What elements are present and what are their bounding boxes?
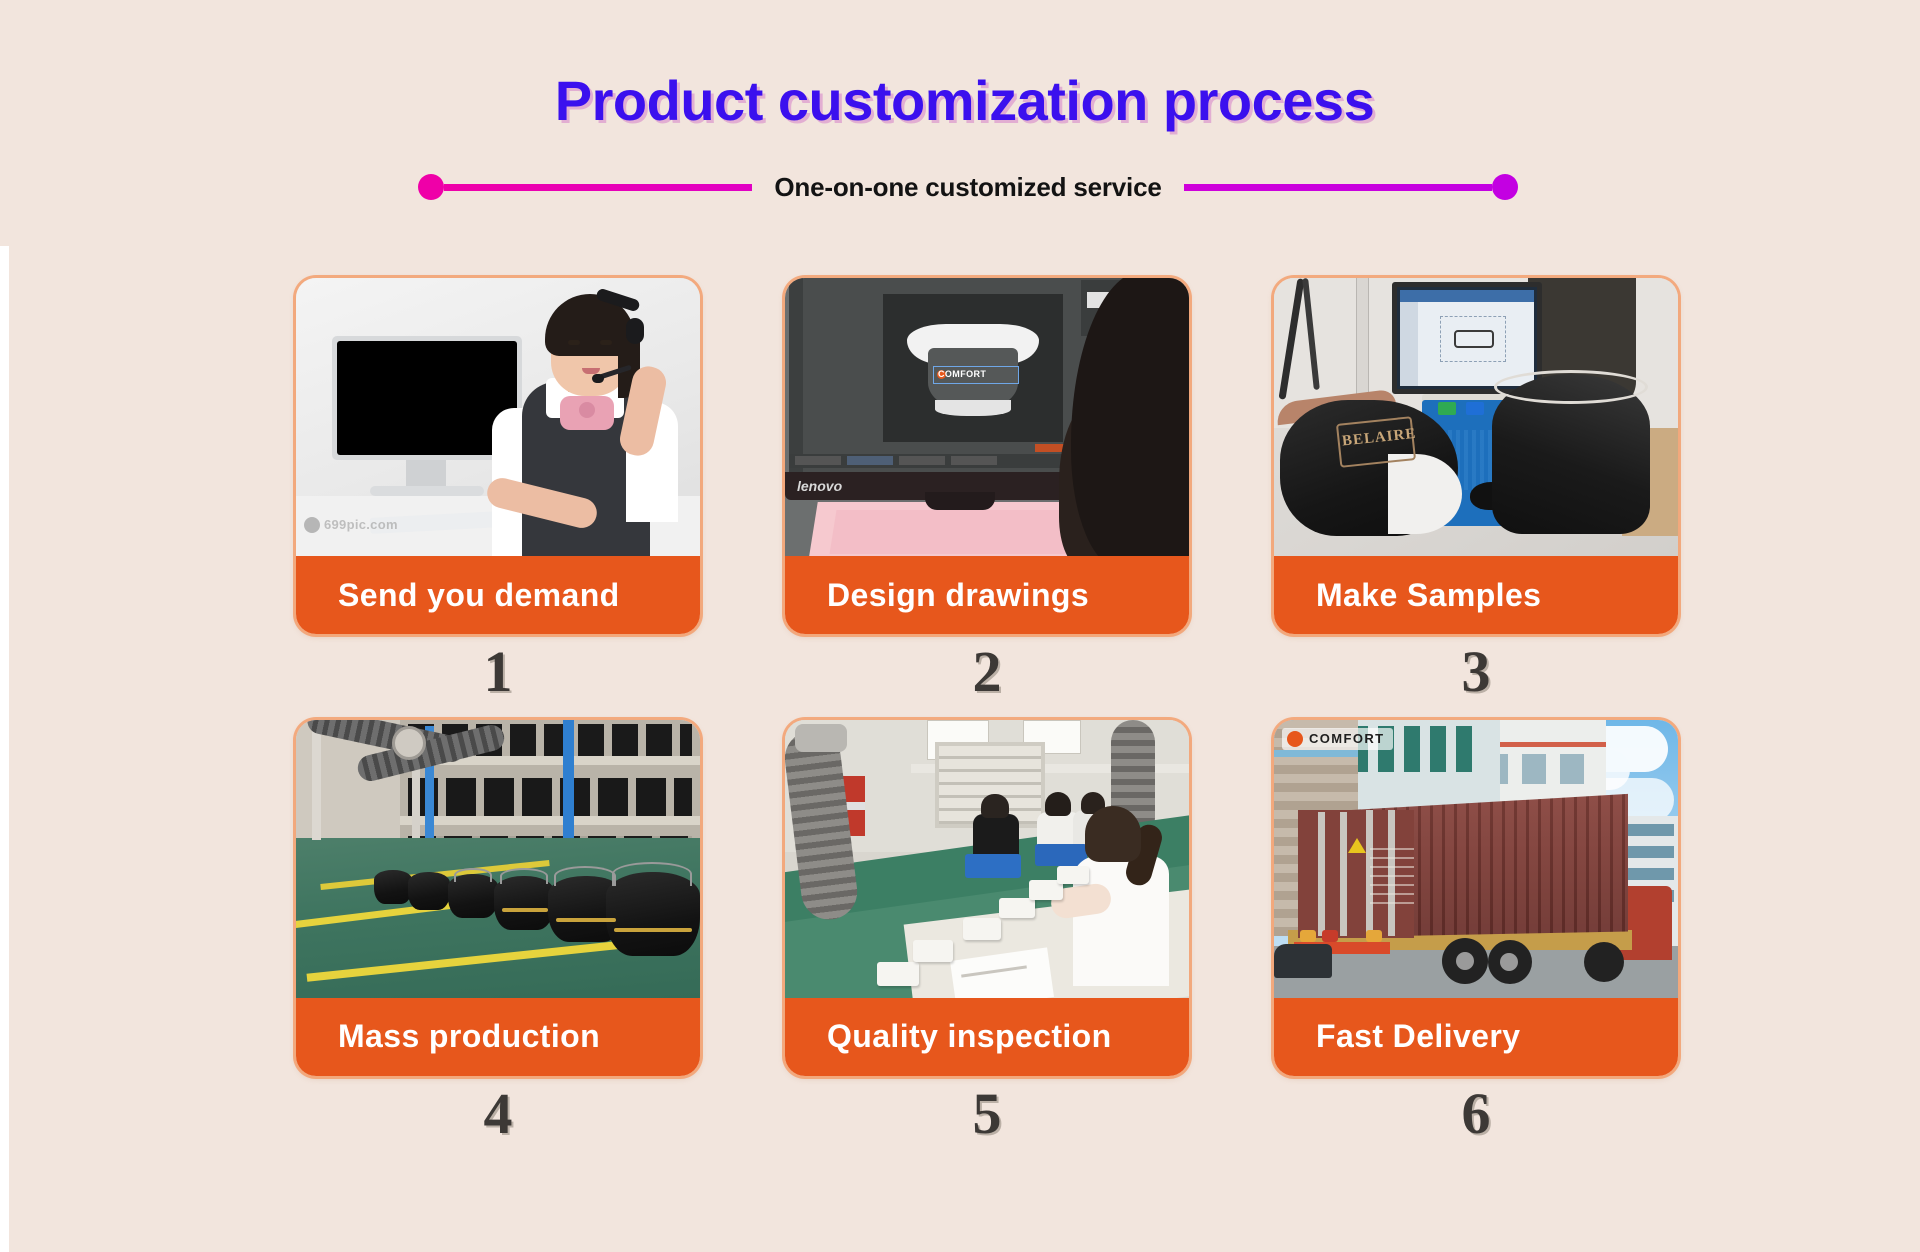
blue-tray-icon xyxy=(965,854,1021,878)
poster-header: Product customization process One-on-one… xyxy=(9,0,1920,230)
monitor-screen-icon xyxy=(337,341,517,455)
step-card[interactable]: Mass production xyxy=(296,720,700,1076)
product-bucket xyxy=(494,876,554,930)
step-card[interactable]: COMFORT Fast Delivery xyxy=(1274,720,1678,1076)
step-label-text: Fast Delivery xyxy=(1316,1018,1520,1055)
fan-icon xyxy=(392,726,426,760)
step-label-text: Mass production xyxy=(338,1018,600,1055)
poster-stage: Product customization process One-on-one… xyxy=(9,0,1920,1252)
step-photo-quality-inspection xyxy=(785,720,1189,998)
dot-left-icon xyxy=(418,174,444,200)
rule-right-divider xyxy=(1184,184,1492,191)
product-box xyxy=(913,940,953,962)
step-label-text: Quality inspection xyxy=(827,1018,1112,1055)
step-photo-send-you-demand: 699pic.com xyxy=(296,278,700,556)
step-label-text: Send you demand xyxy=(338,577,620,614)
subtitle-row: One-on-one customized service xyxy=(418,170,1518,204)
process-step-3: BELAIRE Make Samples 3 xyxy=(1274,278,1678,703)
step-card[interactable]: Quality inspection xyxy=(785,720,1189,1076)
product-box xyxy=(877,962,919,986)
page-title: Product customization process xyxy=(9,68,1920,133)
step-label-text: Make Samples xyxy=(1316,577,1541,614)
subtitle-text: One-on-one customized service xyxy=(752,172,1183,203)
step-label-band: Make Samples xyxy=(1274,556,1678,634)
process-step-5: Quality inspection 5 xyxy=(785,720,1189,1145)
comfort-logo-icon xyxy=(1287,731,1303,747)
step-number: 2 xyxy=(785,634,1189,703)
process-step-4: Mass production 4 xyxy=(296,720,700,1145)
step-number: 5 xyxy=(785,1076,1189,1145)
product-box xyxy=(963,918,1001,940)
worker-head-icon xyxy=(1085,806,1141,862)
step-number: 3 xyxy=(1274,634,1678,703)
step-photo-make-samples: BELAIRE xyxy=(1274,278,1678,556)
step-label-band: Mass production xyxy=(296,998,700,1076)
rule-left-divider xyxy=(444,184,752,191)
step-number: 6 xyxy=(1274,1076,1678,1145)
step-label-band: Design drawings xyxy=(785,556,1189,634)
step-card[interactable]: 699pic.com Send you demand xyxy=(296,278,700,634)
left-edge-notch xyxy=(0,246,9,1252)
step-label-band: Quality inspection xyxy=(785,998,1189,1076)
process-step-6: COMFORT Fast Delivery 6 xyxy=(1274,720,1678,1145)
warning-triangle-icon xyxy=(1348,838,1366,853)
step-label-text: Design drawings xyxy=(827,577,1089,614)
monitor-brand-text: lenovo xyxy=(797,478,842,494)
step-label-band: Send you demand xyxy=(296,556,700,634)
step-photo-fast-delivery: COMFORT xyxy=(1274,720,1678,998)
step-card[interactable]: COMFORT lenovo Design drawings xyxy=(785,278,1189,634)
product-bucket xyxy=(408,872,450,910)
process-step-1: 699pic.com Send you demand 1 xyxy=(296,278,700,703)
watermark-logo-icon xyxy=(304,517,320,533)
photo-watermark: 699pic.com xyxy=(304,516,398,533)
dot-right-icon xyxy=(1492,174,1518,200)
product-box xyxy=(999,898,1035,918)
truck-wheel-icon xyxy=(1584,942,1624,982)
step-photo-mass-production xyxy=(296,720,700,998)
step-number: 4 xyxy=(296,1076,700,1145)
process-step-2: COMFORT lenovo Design drawings xyxy=(785,278,1189,703)
step-card[interactable]: BELAIRE Make Samples xyxy=(1274,278,1678,634)
worker-head-icon xyxy=(981,794,1009,818)
product-bucket xyxy=(374,870,412,904)
product-logo-text: COMFORT xyxy=(938,369,986,379)
step-photo-design-drawings: COMFORT lenovo xyxy=(785,278,1189,556)
step-number: 1 xyxy=(296,634,700,703)
process-steps-grid: 699pic.com Send you demand 1 xyxy=(296,278,1696,1145)
photo-watermark: COMFORT xyxy=(1282,728,1393,750)
worker-head-icon xyxy=(1045,792,1071,816)
product-box xyxy=(1057,866,1089,884)
step-label-band: Fast Delivery xyxy=(1274,998,1678,1076)
